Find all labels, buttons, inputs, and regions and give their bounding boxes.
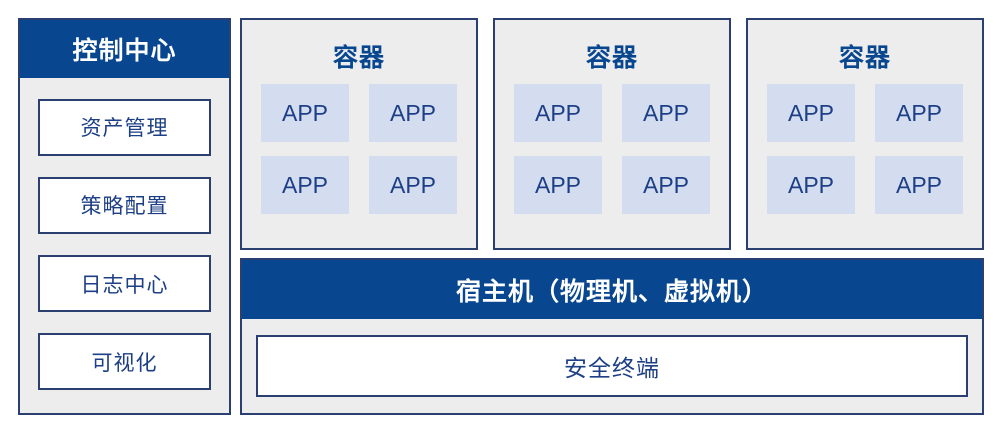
control-center-item-visualization[interactable]: 可视化 xyxy=(38,333,211,390)
app-box[interactable]: APP xyxy=(369,156,457,214)
container-title: 容器 xyxy=(333,38,385,74)
app-box[interactable]: APP xyxy=(767,156,855,214)
host-machine-panel: 宿主机（物理机、虚拟机） 安全终端 xyxy=(240,258,984,415)
container-title: 容器 xyxy=(839,38,891,74)
container-title: 容器 xyxy=(586,38,638,74)
app-box[interactable]: APP xyxy=(261,84,349,142)
app-box[interactable]: APP xyxy=(875,84,963,142)
app-box[interactable]: APP xyxy=(622,84,710,142)
app-box[interactable]: APP xyxy=(514,84,602,142)
control-center-panel: 控制中心 资产管理 策略配置 日志中心 可视化 xyxy=(18,18,231,415)
container-panel-1: 容器 APP APP APP APP xyxy=(240,18,478,250)
control-center-item-list: 资产管理 策略配置 日志中心 可视化 xyxy=(20,78,229,413)
control-center-item-log-center[interactable]: 日志中心 xyxy=(38,255,211,312)
control-center-title: 控制中心 xyxy=(20,20,229,78)
container-panel-3: 容器 APP APP APP APP xyxy=(746,18,984,250)
host-machine-title: 宿主机（物理机、虚拟机） xyxy=(242,260,982,319)
control-center-item-asset-management[interactable]: 资产管理 xyxy=(38,99,211,156)
secure-terminal-box[interactable]: 安全终端 xyxy=(256,335,968,397)
container-panel-2: 容器 APP APP APP APP xyxy=(493,18,731,250)
control-center-item-policy-configuration[interactable]: 策略配置 xyxy=(38,177,211,234)
architecture-diagram: 控制中心 资产管理 策略配置 日志中心 可视化 容器 APP APP APP A… xyxy=(0,0,1001,437)
app-box[interactable]: APP xyxy=(514,156,602,214)
app-box[interactable]: APP xyxy=(875,156,963,214)
app-grid: APP APP APP APP xyxy=(261,84,457,214)
app-box[interactable]: APP xyxy=(261,156,349,214)
app-grid: APP APP APP APP xyxy=(767,84,963,214)
containers-row: 容器 APP APP APP APP 容器 APP APP APP APP 容器… xyxy=(240,18,984,250)
app-grid: APP APP APP APP xyxy=(514,84,710,214)
host-machine-body: 安全终端 xyxy=(242,319,982,413)
app-box[interactable]: APP xyxy=(622,156,710,214)
app-box[interactable]: APP xyxy=(767,84,855,142)
app-box[interactable]: APP xyxy=(369,84,457,142)
